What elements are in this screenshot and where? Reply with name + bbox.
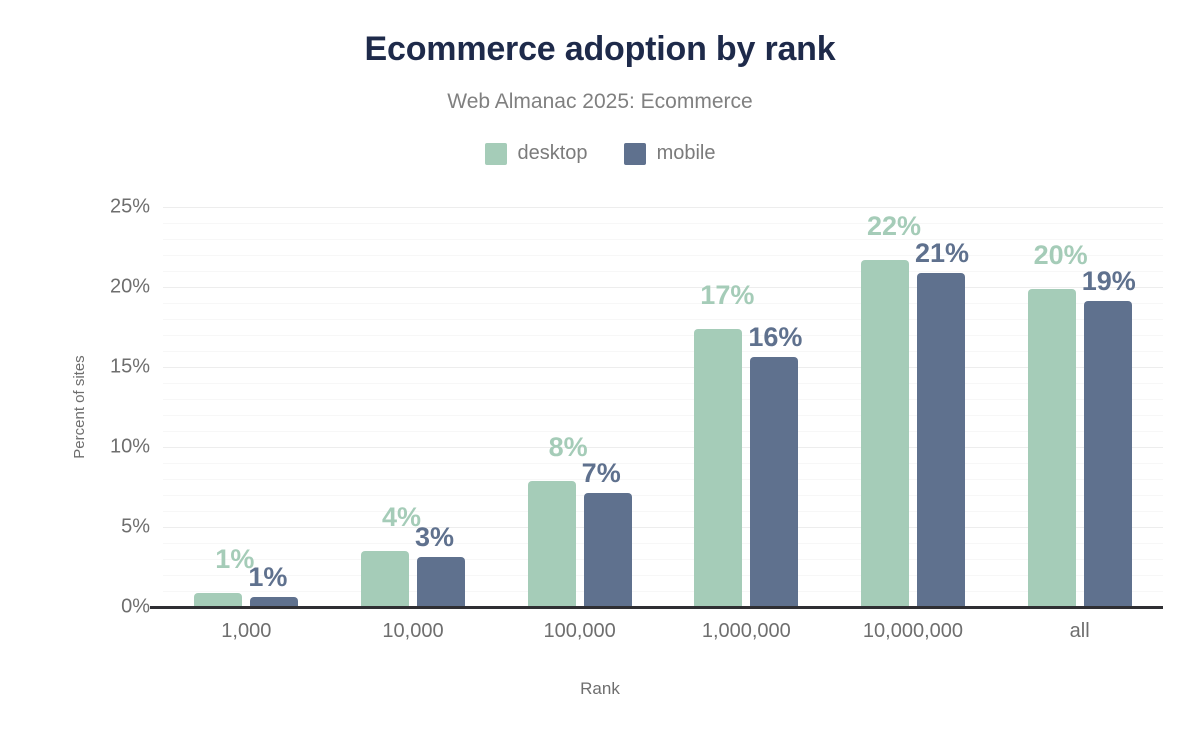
bar-desktop[interactable]: [694, 329, 742, 607]
bar-desktop[interactable]: [194, 593, 242, 607]
legend-item-desktop[interactable]: desktop: [485, 142, 588, 165]
chart-subtitle: Web Almanac 2025: Ecommerce: [0, 90, 1200, 114]
y-tick-label: 15%: [30, 356, 150, 379]
bar-group: 8%7%: [496, 207, 663, 607]
bar-value-label-desktop: 8%: [526, 432, 588, 463]
y-tick-label: 10%: [30, 436, 150, 459]
bar-groups: 1%1%4%3%8%7%17%16%22%21%20%19%: [163, 207, 1163, 607]
legend-item-mobile[interactable]: mobile: [624, 142, 716, 165]
bar-mobile[interactable]: [1084, 301, 1132, 607]
bar-value-label-mobile: 21%: [915, 238, 985, 269]
x-tick-label: 1,000,000: [663, 620, 830, 643]
x-tick-label: 100,000: [496, 620, 663, 643]
y-tick-label: 0%: [30, 596, 150, 619]
bar-mobile[interactable]: [750, 357, 798, 607]
bar-value-label-desktop: 22%: [859, 211, 921, 242]
bar-value-label-mobile: 7%: [582, 458, 652, 489]
bar-value-label-desktop: 17%: [692, 280, 754, 311]
bar-mobile[interactable]: [917, 273, 965, 607]
bar-value-label-desktop: 20%: [1026, 240, 1088, 271]
x-axis-title: Rank: [0, 679, 1200, 699]
chart-title: Ecommerce adoption by rank: [0, 30, 1200, 69]
y-tick-label: 25%: [30, 196, 150, 219]
bar-group: 4%3%: [330, 207, 497, 607]
bar-value-label-mobile: 19%: [1082, 266, 1152, 297]
bar-value-label-desktop: 1%: [192, 544, 254, 575]
bar-value-label-mobile: 16%: [748, 322, 818, 353]
x-axis-baseline: [150, 606, 1163, 609]
bar-desktop[interactable]: [528, 481, 576, 607]
legend-swatch-desktop: [485, 143, 507, 165]
x-tick-label: 10,000: [330, 620, 497, 643]
x-tick-label: 1,000: [163, 620, 330, 643]
bar-desktop[interactable]: [861, 260, 909, 607]
bar-group: 1%1%: [163, 207, 330, 607]
chart-legend: desktopmobile: [0, 142, 1200, 165]
bar-desktop[interactable]: [361, 551, 409, 607]
bar-mobile[interactable]: [584, 493, 632, 607]
legend-swatch-mobile: [624, 143, 646, 165]
bar-group: 17%16%: [663, 207, 830, 607]
bar-group: 22%21%: [830, 207, 997, 607]
x-tick-label: 10,000,000: [830, 620, 997, 643]
chart-container: Ecommerce adoption by rank Web Almanac 2…: [0, 0, 1200, 742]
bar-mobile[interactable]: [417, 557, 465, 607]
x-tick-label: all: [996, 620, 1163, 643]
bar-group: 20%19%: [996, 207, 1163, 607]
y-tick-label: 5%: [30, 516, 150, 539]
legend-label-mobile: mobile: [657, 142, 716, 165]
legend-label-desktop: desktop: [518, 142, 588, 165]
bar-value-label-mobile: 3%: [415, 522, 485, 553]
y-tick-label: 20%: [30, 276, 150, 299]
bar-value-label-mobile: 1%: [248, 562, 318, 593]
plot-area: 1%1%4%3%8%7%17%16%22%21%20%19%: [163, 207, 1163, 607]
bar-desktop[interactable]: [1028, 289, 1076, 607]
bar-value-label-desktop: 4%: [359, 502, 421, 533]
